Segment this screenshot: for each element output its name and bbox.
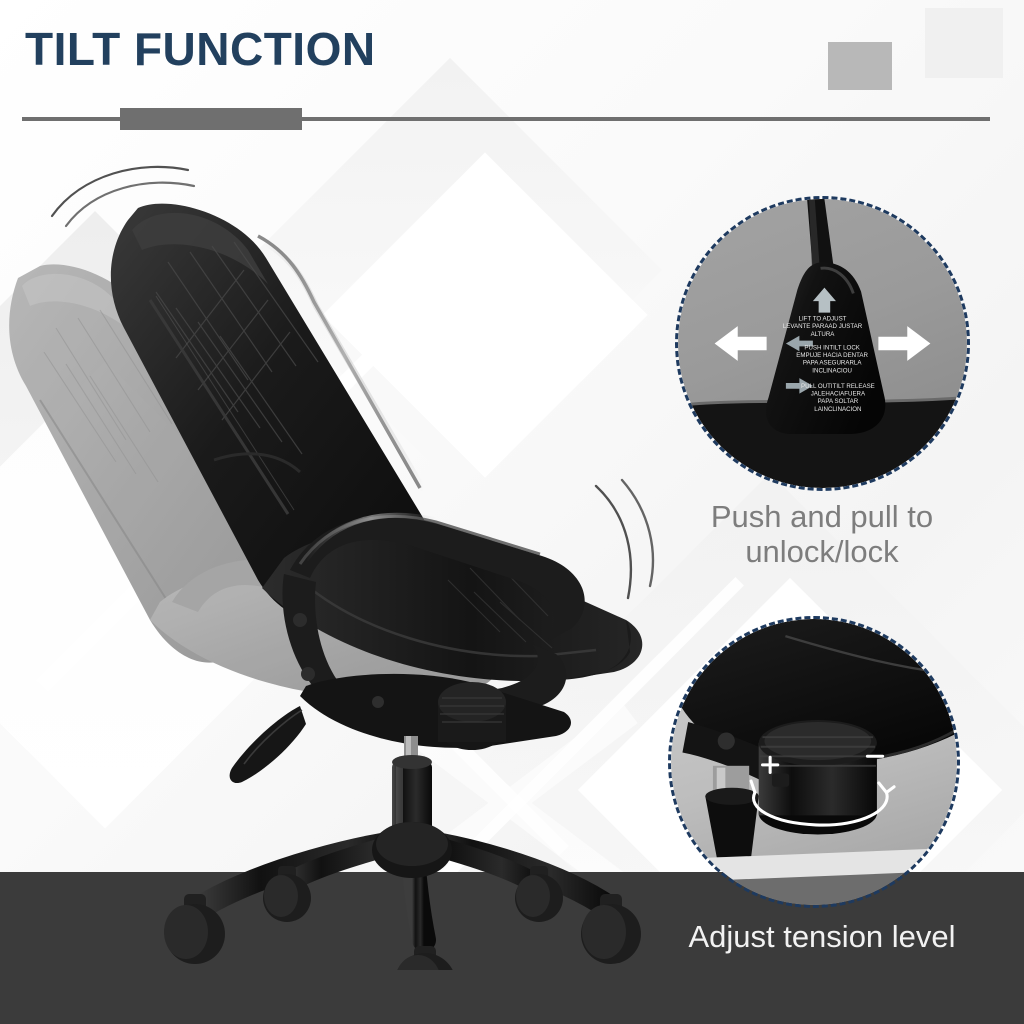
svg-text:JALEHACIAFUERA: JALEHACIAFUERA	[811, 391, 866, 398]
title-divider	[22, 108, 990, 130]
callout-tension-knob-photo	[671, 619, 957, 905]
page-title: TILT FUNCTION	[25, 26, 376, 72]
caption-line: Push and pull to	[640, 500, 1004, 535]
svg-text:ALTURA: ALTURA	[811, 331, 836, 338]
svg-text:LAINCLINACION: LAINCLINACION	[814, 406, 861, 413]
svg-text:LIFT TO ADJUST: LIFT TO ADJUST	[799, 315, 847, 322]
svg-text:PAPA SOLTAR: PAPA SOLTAR	[818, 398, 859, 405]
svg-text:EMPUJE HACIA DENTAR: EMPUJE HACIA DENTAR	[796, 352, 868, 359]
svg-text:PAPA ASEGURARLA: PAPA ASEGURARLA	[803, 360, 863, 367]
svg-text:LEVANTE PARAAD JUSTAR: LEVANTE PARAAD JUSTAR	[783, 323, 863, 330]
caption-line: unlock/lock	[640, 535, 1004, 570]
svg-text:PULL OUTITILT RELEASE: PULL OUTITILT RELEASE	[801, 383, 875, 390]
motion-arc-top	[48, 160, 208, 230]
svg-text:PUSH INTILT LOCK: PUSH INTILT LOCK	[804, 344, 860, 351]
divider-accent-block	[120, 108, 302, 130]
tension-knob	[438, 682, 506, 750]
callout-tension-knob[interactable]	[668, 616, 960, 908]
svg-text:INCLINACIOU: INCLINACIOU	[812, 367, 852, 374]
caption-line: Adjust tension level	[620, 920, 1024, 955]
product-image-office-chair	[0, 150, 660, 970]
callout-tilt-lever-photo: LIFT TO ADJUST LEVANTE PARAAD JUSTAR ALT…	[678, 199, 967, 488]
infographic-canvas: TILT FUNCTION	[0, 0, 1024, 1024]
callout-tilt-lever-caption: Push and pull to unlock/lock	[640, 500, 1004, 569]
decorative-square-dark	[828, 42, 892, 90]
callout-tension-knob-caption: Adjust tension level	[620, 920, 1024, 955]
decorative-square-light	[925, 8, 1003, 78]
callout-tilt-lever[interactable]: LIFT TO ADJUST LEVANTE PARAAD JUSTAR ALT…	[675, 196, 970, 491]
